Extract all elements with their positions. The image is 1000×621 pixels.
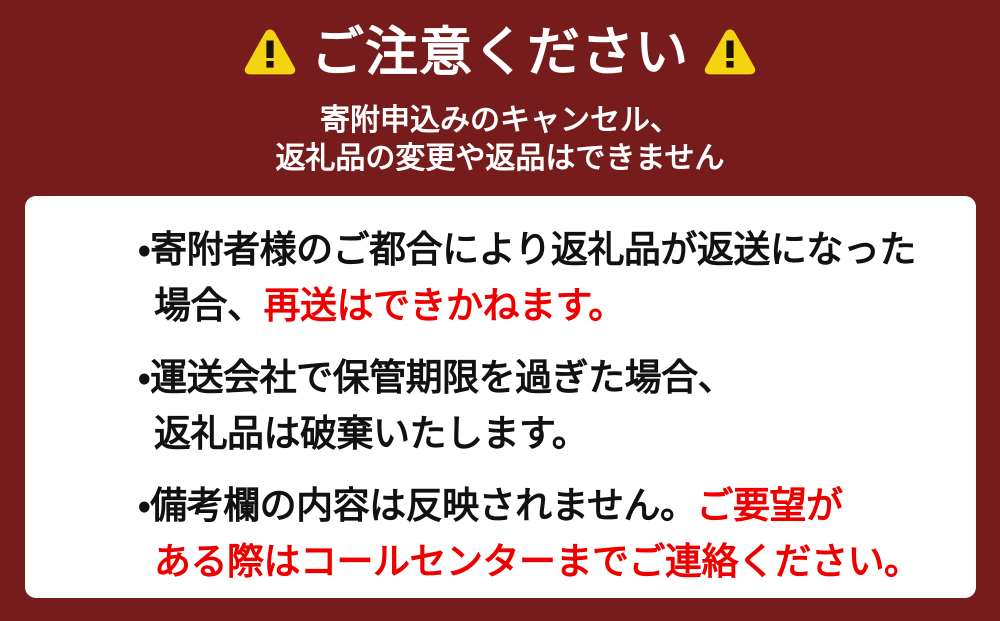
page-title: ご注意ください xyxy=(311,26,689,79)
note-segment: 返礼品は破棄いたします。 xyxy=(154,413,588,454)
note-line: 返礼品は破棄いたします。 xyxy=(138,406,946,462)
note-line: ・運送会社で保管期限を過ぎた場合、 xyxy=(138,350,946,406)
bullet-marker: ・ xyxy=(138,485,150,526)
banner-header: ご注意ください 寄附申込みのキャンセル、 返礼品の変更や返品はできません xyxy=(0,0,1000,178)
subtitle-line: 返礼品の変更や返品はできません xyxy=(0,140,1000,178)
banner-subtitle: 寄附申込みのキャンセル、 返礼品の変更や返品はできません xyxy=(0,102,1000,178)
note-segment: 備考欄の内容は反映されません。 xyxy=(150,485,696,526)
note-line: ある際はコールセンターまでご連絡ください。 xyxy=(138,534,946,590)
note-segment-highlight: ある際はコールセンターまでご連絡ください。 xyxy=(154,541,921,582)
note-segment-highlight: ご要望が xyxy=(696,485,842,526)
notice-banner: ご注意ください 寄附申込みのキャンセル、 返礼品の変更や返品はできません ・寄附… xyxy=(0,0,1000,621)
bullet-marker: ・ xyxy=(138,357,150,398)
note-segment: 寄附者様のご都合により返礼品が返送になった xyxy=(150,229,916,270)
note-segment: 場合、 xyxy=(154,285,264,326)
subtitle-line: 寄附申込みのキャンセル、 xyxy=(0,102,1000,140)
note-item: ・運送会社で保管期限を過ぎた場合、 返礼品は破棄いたします。 xyxy=(138,350,946,462)
note-line: ・寄附者様のご都合により返礼品が返送になった xyxy=(138,222,946,278)
note-line: 場合、再送はできかねます。 xyxy=(138,278,946,334)
notes-card: ・寄附者様のご都合により返礼品が返送になった 場合、再送はできかねます。 ・運送… xyxy=(25,196,976,598)
warning-triangle-icon xyxy=(243,27,297,77)
warning-triangle-icon xyxy=(703,27,757,77)
note-item: ・備考欄の内容は反映されません。ご要望が ある際はコールセンターまでご連絡くださ… xyxy=(138,478,946,590)
bullet-marker: ・ xyxy=(138,229,150,270)
note-segment: 運送会社で保管期限を過ぎた場合、 xyxy=(150,357,734,398)
note-item: ・寄附者様のご都合により返礼品が返送になった 場合、再送はできかねます。 xyxy=(138,222,946,334)
title-row: ご注意ください xyxy=(0,16,1000,88)
note-line: ・備考欄の内容は反映されません。ご要望が xyxy=(138,478,946,534)
note-segment-highlight: 再送はできかねます。 xyxy=(264,285,625,326)
